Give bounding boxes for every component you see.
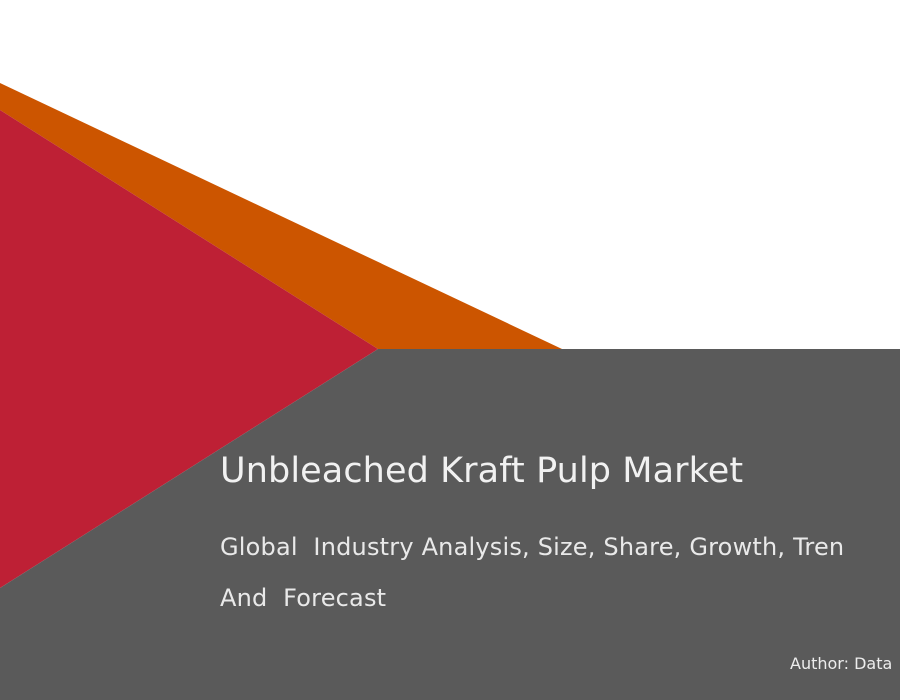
- subtitle-line-2: And Forecast: [220, 573, 900, 624]
- page-title: Unbleached Kraft Pulp Market: [220, 449, 900, 493]
- cover-content: Unbleached Kraft Pulp Market Global Indu…: [0, 0, 900, 700]
- author-label: Author: Data: [790, 653, 892, 675]
- title-block: Unbleached Kraft Pulp Market: [220, 449, 900, 493]
- subtitle-line-1: Global Industry Analysis, Size, Share, G…: [220, 522, 900, 573]
- subtitle-block: Global Industry Analysis, Size, Share, G…: [220, 522, 900, 624]
- report-cover: Unbleached Kraft Pulp Market Global Indu…: [0, 0, 900, 700]
